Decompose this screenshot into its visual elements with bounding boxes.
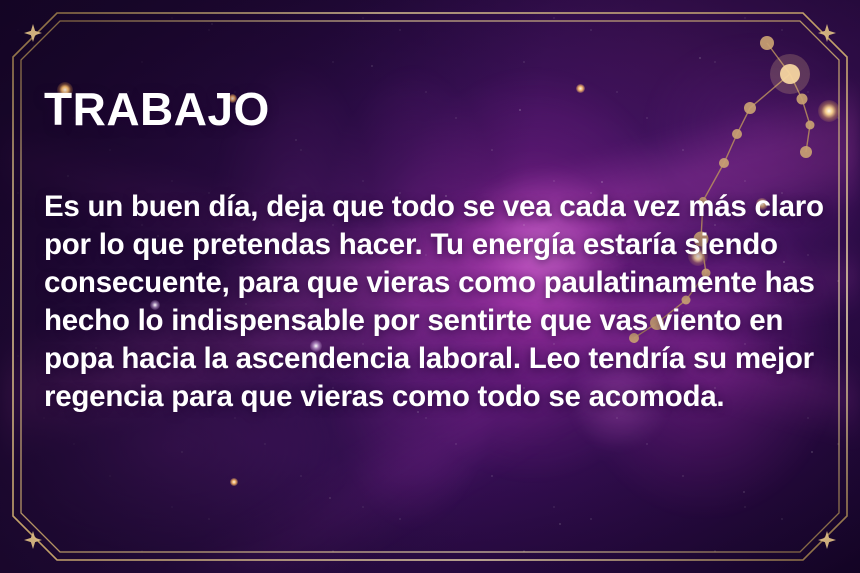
sparkle-icon (24, 531, 42, 549)
bright-star-icon (230, 478, 238, 486)
sparkle-icon (818, 531, 836, 549)
constellation-node (760, 36, 774, 50)
content-block: TRABAJO Es un buen día, deja que todo se… (44, 86, 834, 416)
constellation-alpha-star (780, 64, 800, 84)
page-title: TRABAJO (44, 86, 834, 132)
sparkle-icon (24, 24, 42, 42)
horoscope-body-text: Es un buen día, deja que todo se vea cad… (44, 132, 824, 416)
sparkle-icon (818, 24, 836, 42)
horoscope-card: TRABAJO Es un buen día, deja que todo se… (0, 0, 860, 573)
